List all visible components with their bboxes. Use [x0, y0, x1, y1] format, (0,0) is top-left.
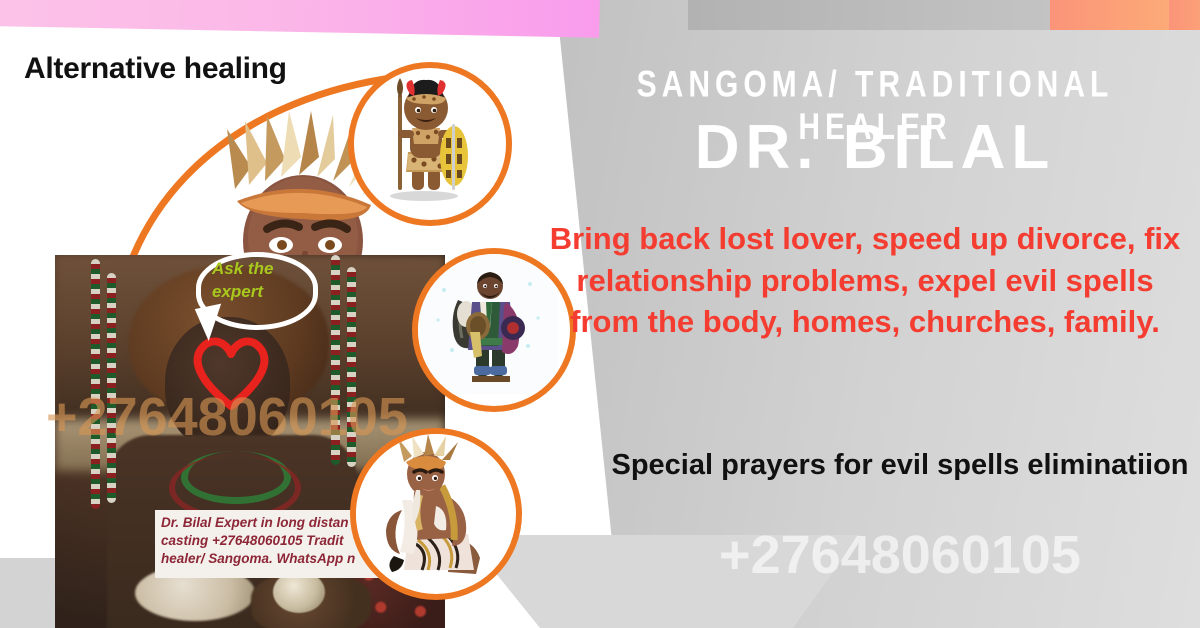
caption-line-2: casting +27648060105 Tradit — [161, 532, 379, 550]
healer-name: DR. BILAL — [560, 112, 1190, 183]
special-offer-text: Special prayers for evil spells eliminat… — [600, 446, 1200, 485]
illustrated-diviner-icon — [418, 254, 558, 394]
circle-image-zulu-warrior — [348, 62, 512, 226]
speech-bubble-label: Ask the expert — [212, 258, 304, 304]
caption-line-3: healer/ Sangoma. WhatsApp n — [161, 550, 379, 568]
cartoon-zulu-warrior-icon — [354, 68, 494, 208]
caption-line-1: Dr. Bilal Expert in long distan — [161, 514, 379, 532]
watermark-phone-right: +27648060105 — [600, 524, 1200, 586]
circle-image-sangoma — [350, 428, 522, 600]
top-orange-bar — [1169, 0, 1200, 30]
poster-canvas: Alternative healing — [0, 0, 1200, 628]
illustrated-sangoma-icon — [356, 434, 504, 582]
services-text: Bring back lost lover, speed up divorce,… — [540, 218, 1190, 343]
